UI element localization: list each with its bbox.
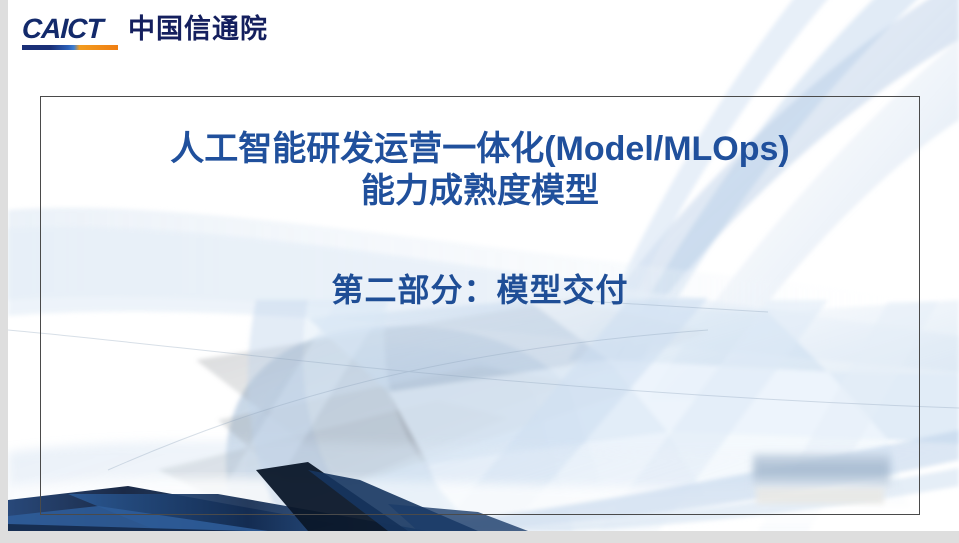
title-line-1: 人工智能研发运营一体化(Model/MLOps)	[40, 128, 920, 170]
slide-subtitle: 第二部分：模型交付	[40, 268, 920, 312]
viewer-bottom-margin	[0, 531, 959, 543]
logo-mark: CAICT	[22, 14, 118, 50]
subtitle-line-1: 第二部分：模型交付	[40, 268, 920, 312]
logo-underline-bar	[22, 45, 118, 50]
logo-latin-text: CAICT	[21, 14, 118, 44]
presentation-slide: CAICT 中国信通院 人工智能研发运营一体化(Model/MLOps) 能力成…	[8, 0, 959, 531]
caict-logo: CAICT 中国信通院	[22, 14, 268, 50]
viewer-left-margin	[0, 0, 8, 543]
title-line-2: 能力成熟度模型	[40, 170, 920, 212]
slide-title: 人工智能研发运营一体化(Model/MLOps) 能力成熟度模型	[40, 128, 920, 212]
logo-chinese-text: 中国信通院	[128, 14, 268, 45]
slide-viewer: CAICT 中国信通院 人工智能研发运营一体化(Model/MLOps) 能力成…	[0, 0, 959, 543]
